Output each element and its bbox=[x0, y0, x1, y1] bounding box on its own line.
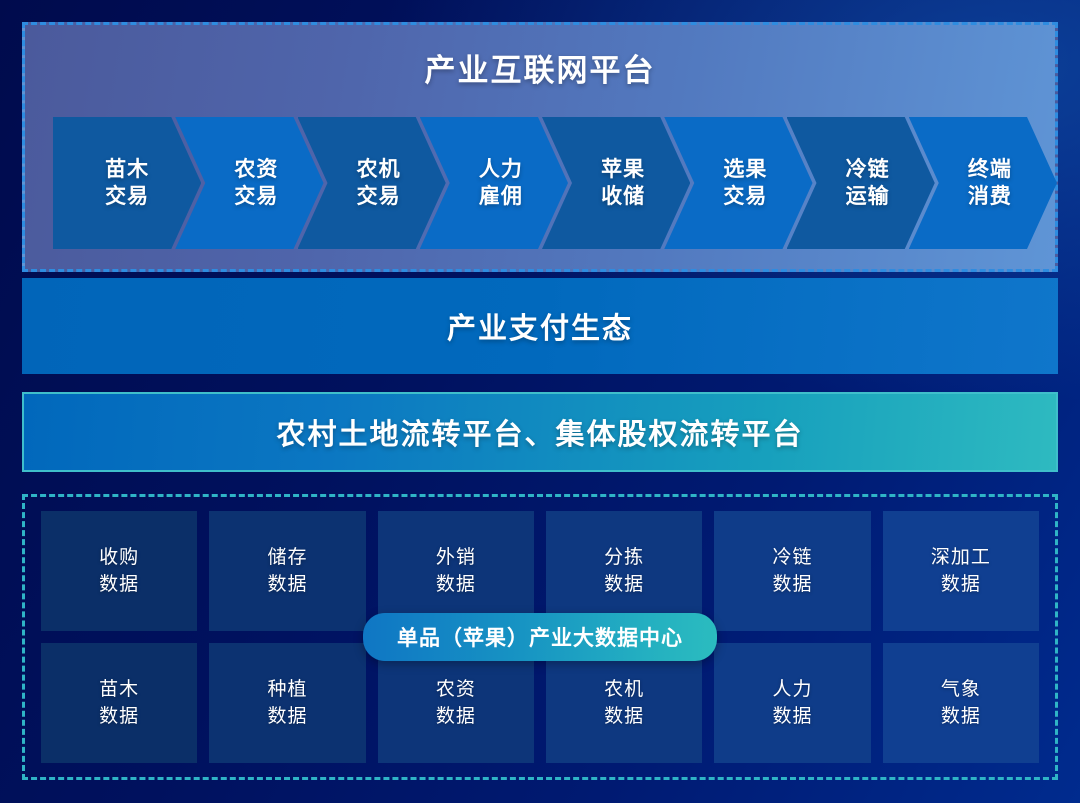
data-cell-machinery[interactable]: 农机 数据 bbox=[546, 643, 702, 763]
data-cell-labor[interactable]: 人力 数据 bbox=[714, 643, 870, 763]
diagram-canvas: 产业互联网平台 苗木 交易 农资 交易 农机 交易 人力 雇佣 苹果 收储 选果… bbox=[0, 0, 1080, 803]
data-cell-seedling[interactable]: 苗木 数据 bbox=[41, 643, 197, 763]
data-cell-planting[interactable]: 种植 数据 bbox=[209, 643, 365, 763]
chevron-step-2-label: 农资 交易 bbox=[220, 156, 278, 211]
chevron-step-3-label: 农机 交易 bbox=[343, 156, 401, 211]
land-equity-transfer-band[interactable]: 农村土地流转平台、集体股权流转平台 bbox=[22, 392, 1058, 472]
data-cell-storage[interactable]: 储存 数据 bbox=[209, 511, 365, 631]
top-panel-title: 产业互联网平台 bbox=[25, 45, 1055, 90]
chevron-step-8-label: 终端 消费 bbox=[954, 156, 1012, 211]
data-cell-cold-chain[interactable]: 冷链 数据 bbox=[714, 511, 870, 631]
data-cell-purchase[interactable]: 收购 数据 bbox=[41, 511, 197, 631]
big-data-center-panel: 收购 数据 储存 数据 外销 数据 分拣 数据 冷链 数据 深加工 数据 苗木 … bbox=[22, 494, 1058, 780]
chevron-step-5-label: 苹果 收储 bbox=[587, 156, 645, 211]
industry-internet-platform-panel: 产业互联网平台 苗木 交易 农资 交易 农机 交易 人力 雇佣 苹果 收储 选果… bbox=[22, 22, 1058, 272]
chevron-step-6-label: 选果 交易 bbox=[709, 156, 767, 211]
data-cell-agri-input[interactable]: 农资 数据 bbox=[378, 643, 534, 763]
chevron-step-1-label: 苗木 交易 bbox=[105, 156, 149, 211]
data-cell-processing[interactable]: 深加工 数据 bbox=[883, 511, 1039, 631]
land-equity-transfer-label: 农村土地流转平台、集体股权流转平台 bbox=[276, 411, 803, 453]
chevron-step-4-label: 人力 雇佣 bbox=[465, 156, 523, 211]
chevron-step-7-label: 冷链 运输 bbox=[832, 156, 890, 211]
value-chain-chevron-strip: 苗木 交易 农资 交易 农机 交易 人力 雇佣 苹果 收储 选果 交易 冷链 运… bbox=[53, 117, 1031, 249]
chevron-step-1[interactable]: 苗木 交易 bbox=[53, 117, 201, 249]
big-data-center-badge[interactable]: 单品（苹果）产业大数据中心 bbox=[363, 613, 717, 661]
payment-ecosystem-label: 产业支付生态 bbox=[447, 305, 633, 347]
data-cell-weather[interactable]: 气象 数据 bbox=[883, 643, 1039, 763]
data-cell-grid: 收购 数据 储存 数据 外销 数据 分拣 数据 冷链 数据 深加工 数据 苗木 … bbox=[41, 511, 1039, 763]
payment-ecosystem-band[interactable]: 产业支付生态 bbox=[22, 278, 1058, 374]
